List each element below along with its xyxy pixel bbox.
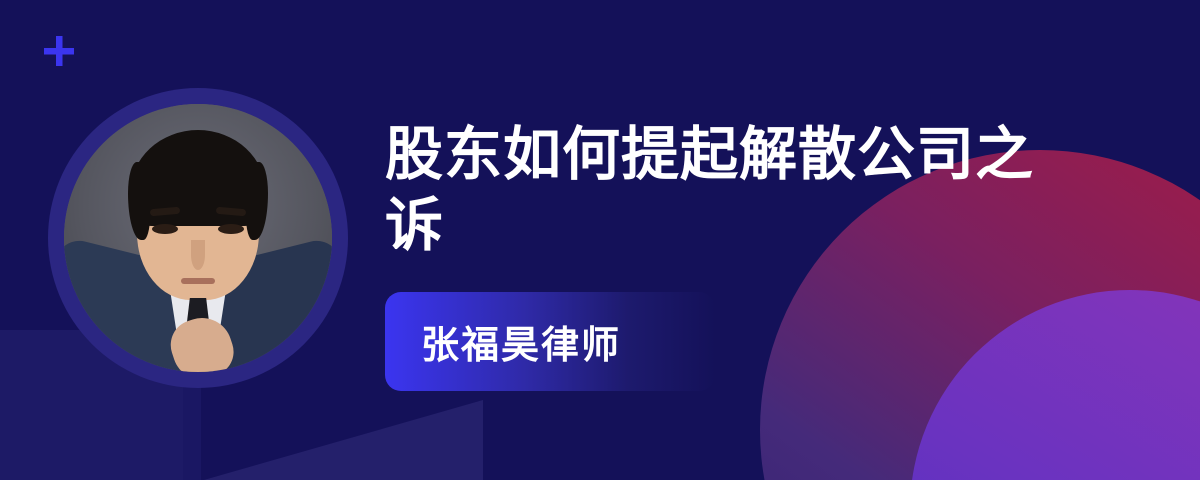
avatar — [48, 88, 348, 388]
author-button[interactable]: 张福昊律师 — [385, 292, 715, 391]
plus-icon — [44, 36, 74, 66]
article-cover-banner: 股东如何提起解散公司之诉 张福昊律师 — [0, 0, 1200, 480]
cover-content: 股东如何提起解散公司之诉 张福昊律师 — [385, 120, 1165, 391]
decorative-triangle — [183, 400, 483, 480]
page-title: 股东如何提起解散公司之诉 — [385, 120, 1045, 262]
avatar-photo — [64, 104, 332, 372]
